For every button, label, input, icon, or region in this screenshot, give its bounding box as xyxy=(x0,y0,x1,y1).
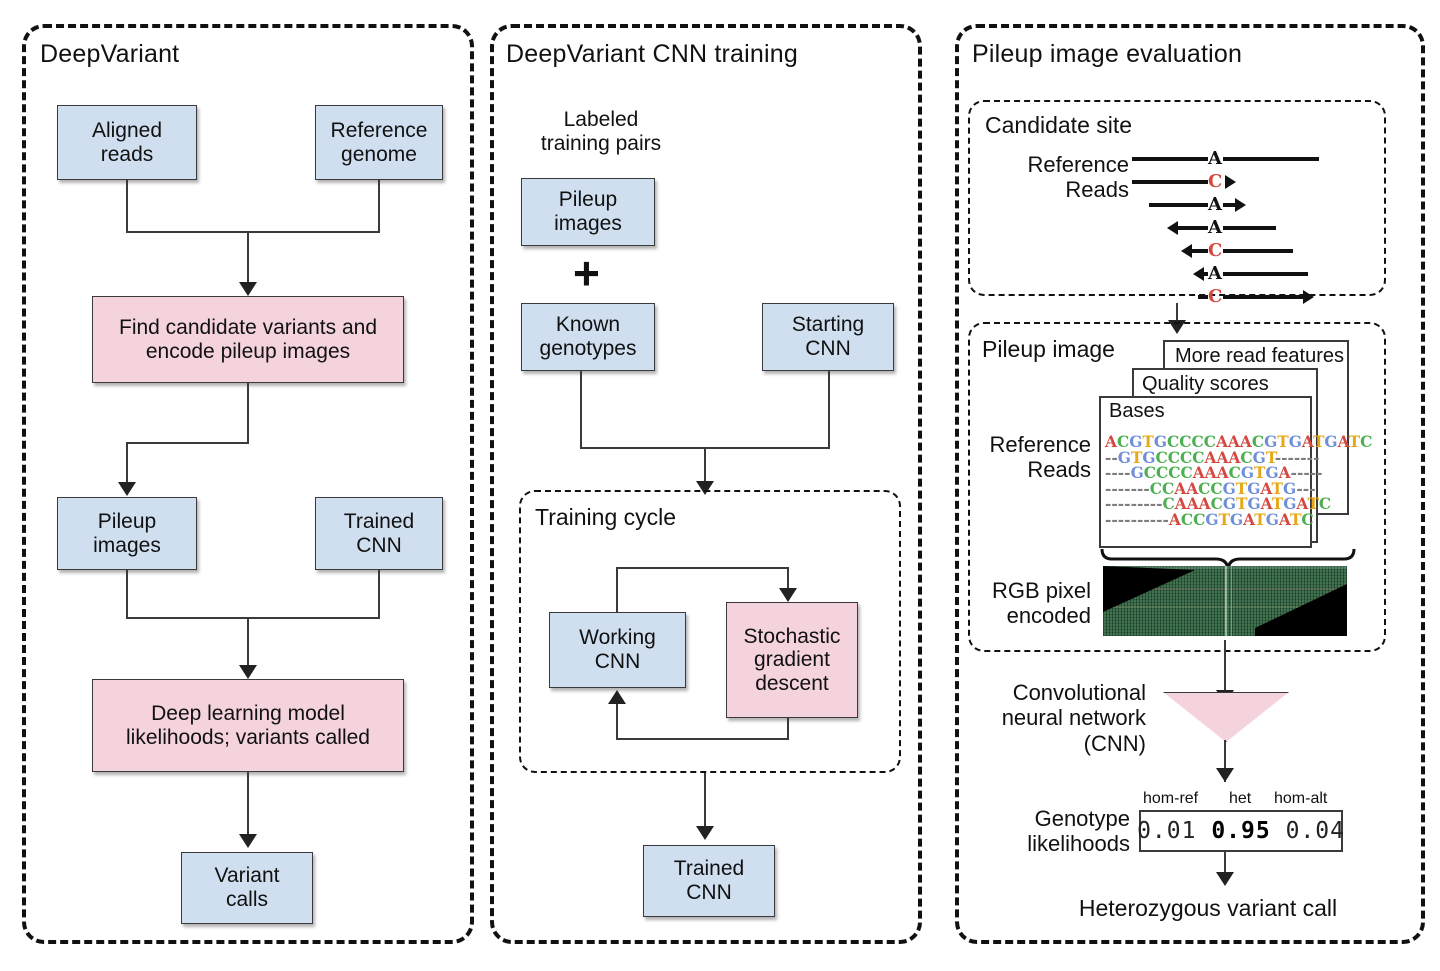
node-deep-learning-model[interactable]: Deep learning modellikelihoods; variants… xyxy=(92,679,404,772)
connector-merge-1 xyxy=(126,231,380,233)
read-segment-right xyxy=(1223,272,1308,276)
card-quality-scores-label: Quality scores xyxy=(1142,373,1269,396)
final-variant-call-label: Heterozygous variant call xyxy=(1008,895,1408,921)
read-segment-left xyxy=(1177,226,1208,230)
candidate-read-row: A xyxy=(1110,150,1380,168)
arrow-to-find xyxy=(239,282,257,296)
node-pileup-images[interactable]: Pileupimages xyxy=(57,497,197,570)
genotype-header-hom-alt: hom-alt xyxy=(1274,790,1327,808)
read-base-A: A xyxy=(1208,196,1222,214)
node-starting-cnn[interactable]: StartingCNN xyxy=(762,303,894,371)
connector-cycle-top xyxy=(616,567,789,569)
candidate-site-row-label-reads: Reads xyxy=(985,177,1129,202)
sequence-line: ----------ACCGTGATGATC xyxy=(1105,513,1372,529)
read-base-C: C xyxy=(1208,173,1222,191)
connector-find-down xyxy=(247,383,249,443)
read-segment-right xyxy=(1223,249,1293,253)
read-direction-right-icon xyxy=(1235,198,1246,212)
read-direction-right-icon xyxy=(1303,290,1314,304)
connector-tcnn-down xyxy=(378,570,380,618)
pileup-row-label-reads: Reads xyxy=(975,457,1091,482)
node-aligned-reads-label: Alignedreads xyxy=(88,119,166,166)
read-segment-left xyxy=(1191,249,1208,253)
node-stochastic-gradient-descent-label: Stochasticgradientdescent xyxy=(740,625,845,696)
read-base-A: A xyxy=(1208,265,1222,283)
node-training-pileup-images[interactable]: Pileupimages xyxy=(521,178,655,246)
card-more-read-features-label: More read features xyxy=(1175,345,1344,368)
node-find-candidate-variants[interactable]: Find candidate variants andencode pileup… xyxy=(92,296,404,383)
inner-panel-pileup-image-title: Pileup image xyxy=(982,336,1115,363)
read-base-C: C xyxy=(1208,288,1222,306)
candidate-read-row: C xyxy=(1110,288,1380,306)
node-aligned-reads[interactable]: Alignedreads xyxy=(57,105,197,180)
pileup-row-label-reference: Reference xyxy=(975,432,1091,457)
genotype-value-het: 0.95 xyxy=(1211,818,1270,844)
candidate-read-row: A xyxy=(1110,196,1380,214)
read-segment-right xyxy=(1223,295,1305,299)
node-variant-calls-label: Variantcalls xyxy=(211,864,284,911)
connector-reference-down xyxy=(378,180,380,232)
connector-find-left xyxy=(126,442,249,444)
arrow-to-pileup-images xyxy=(118,482,136,496)
connector-cycle-bottom-right xyxy=(787,718,789,740)
node-training-trained-cnn-label: TrainedCNN xyxy=(670,857,748,904)
panel-pileup-evaluation-title: Pileup image evaluation xyxy=(972,40,1242,69)
rgb-pixel-encoded-label: RGB pixelencoded xyxy=(975,578,1091,629)
candidate-read-row: C xyxy=(1110,242,1380,260)
genotype-value-hom-ref: 0.01 xyxy=(1137,818,1196,844)
connector-to-deep xyxy=(247,617,249,669)
node-training-trained-cnn[interactable]: TrainedCNN xyxy=(643,845,775,917)
arrow-to-genotype xyxy=(1216,768,1234,782)
read-direction-right-icon xyxy=(1225,175,1236,189)
node-variant-calls[interactable]: Variantcalls xyxy=(181,852,313,924)
read-segment-left xyxy=(1132,180,1208,184)
panel-deepvariant-title: DeepVariant xyxy=(40,40,179,69)
node-training-pileup-images-label: Pileupimages xyxy=(550,188,626,235)
node-deep-learning-model-label: Deep learning modellikelihoods; variants… xyxy=(122,702,374,749)
connector-cycle-out xyxy=(704,773,706,829)
node-reference-genome-label: Referencegenome xyxy=(327,119,432,166)
plus-sign: + xyxy=(573,250,600,296)
node-pileup-images-label: Pileupimages xyxy=(89,510,165,557)
genotype-header-hom-ref: hom-ref xyxy=(1143,790,1198,808)
panel-cnn-training-title: DeepVariant CNN training xyxy=(506,40,798,69)
node-stochastic-gradient-descent[interactable]: Stochasticgradientdescent xyxy=(726,602,858,718)
read-base-C: C xyxy=(1208,242,1222,260)
arrow-to-sgd xyxy=(779,588,797,602)
read-segment-right xyxy=(1223,226,1276,230)
candidate-read-row: A xyxy=(1110,265,1380,283)
connector-aligned-down xyxy=(126,180,128,232)
node-find-candidate-variants-label: Find candidate variants andencode pileup… xyxy=(115,316,381,363)
genotype-likelihoods-label: Genotypelikelihoods xyxy=(978,806,1130,857)
read-base-A: A xyxy=(1208,219,1222,237)
node-trained-cnn[interactable]: TrainedCNN xyxy=(315,497,443,570)
connector-cycle-bottom-left xyxy=(616,703,618,739)
connector-cycle-bottom xyxy=(616,738,789,740)
inner-panel-training-cycle-title: Training cycle xyxy=(535,504,676,531)
labeled-training-pairs-label: Labeledtraining pairs xyxy=(513,108,689,156)
read-segment-left xyxy=(1198,295,1208,299)
card-bases-label: Bases xyxy=(1109,400,1165,423)
arrow-to-final-call xyxy=(1216,872,1234,886)
cnn-label: Convolutionalneural network(CNN) xyxy=(970,680,1146,756)
genotype-value-hom-alt: 0.04 xyxy=(1286,818,1345,844)
genotype-likelihoods-box: 0.01 0.95 0.04 xyxy=(1139,810,1343,852)
genotype-header-het: het xyxy=(1229,790,1251,808)
node-reference-genome[interactable]: Referencegenome xyxy=(315,105,443,180)
read-segment-right xyxy=(1223,157,1319,161)
candidate-read-row: C xyxy=(1110,173,1380,191)
connector-pileup-down xyxy=(126,570,128,618)
node-working-cnn-label: WorkingCNN xyxy=(575,626,660,673)
pileup-sequences: ACGTGCCCCAAACGTGATGATC--GTGCCCCAAACGT---… xyxy=(1105,435,1372,529)
rgb-pixel-image xyxy=(1103,566,1347,636)
read-segment-left xyxy=(1149,203,1208,207)
connector-deep-down xyxy=(247,772,249,837)
arrow-to-trained-cnn xyxy=(696,826,714,840)
inner-panel-candidate-site-title: Candidate site xyxy=(985,112,1132,139)
connector-starting-down xyxy=(828,371,830,448)
node-trained-cnn-label: TrainedCNN xyxy=(340,510,418,557)
node-working-cnn[interactable]: WorkingCNN xyxy=(549,612,686,688)
node-known-genotypes[interactable]: Knowngenotypes xyxy=(521,303,655,371)
arrow-to-variant-calls xyxy=(239,834,257,848)
candidate-read-row: A xyxy=(1110,219,1380,237)
connector-merge-2 xyxy=(126,617,380,619)
read-segment-left xyxy=(1132,157,1208,161)
arrow-to-deep-learning xyxy=(239,665,257,679)
node-known-genotypes-label: Knowngenotypes xyxy=(536,313,641,360)
connector-known-down xyxy=(580,371,582,448)
candidate-site-row-label-reference: Reference xyxy=(985,152,1129,177)
read-base-A: A xyxy=(1208,150,1222,168)
connector-to-find xyxy=(247,231,249,286)
connector-to-cycle xyxy=(704,447,706,485)
connector-to-pileup xyxy=(126,442,128,484)
arrow-to-working-cnn xyxy=(608,690,626,704)
node-starting-cnn-label: StartingCNN xyxy=(788,313,868,360)
